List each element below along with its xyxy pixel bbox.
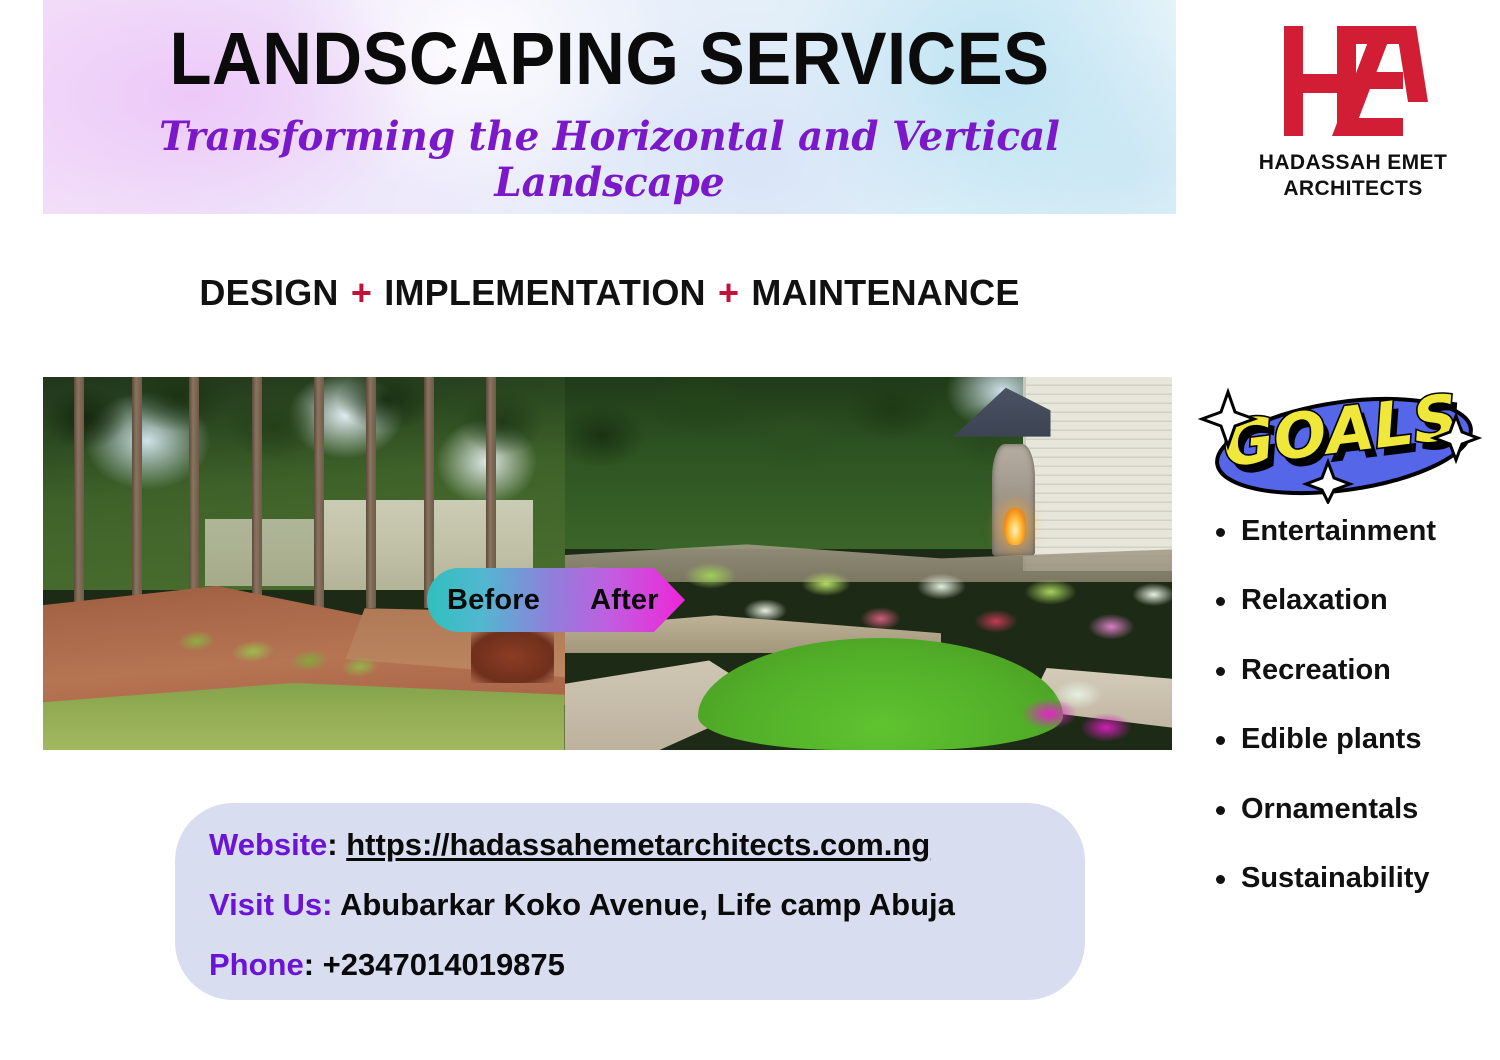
after-magenta-flowers bbox=[1002, 646, 1160, 743]
company-logo: HADASSAH EMET ARCHITECTS bbox=[1228, 22, 1478, 201]
goal-item-ornamentals: Ornamentals bbox=[1213, 794, 1493, 824]
before-tree-trunk bbox=[252, 377, 262, 608]
before-tree-trunk bbox=[314, 377, 324, 608]
website-separator: : bbox=[327, 827, 346, 862]
goals-badge-icon: GOALS GOALS bbox=[1198, 382, 1484, 504]
goals-list: Entertainment Relaxation Recreation Edib… bbox=[1213, 516, 1493, 933]
before-mulch-pile bbox=[471, 631, 554, 683]
goals-badge: GOALS GOALS bbox=[1198, 382, 1484, 504]
logo-line-1: HADASSAH EMET bbox=[1259, 151, 1447, 174]
website-url[interactable]: https://hadassahemetarchitects.com.ng bbox=[346, 827, 930, 862]
before-tree-trunk bbox=[424, 377, 434, 608]
website-label: Website bbox=[209, 827, 327, 862]
before-background-house-left bbox=[205, 519, 320, 586]
after-fire-glow bbox=[1004, 508, 1026, 545]
contact-row-phone: Phone: +2347014019875 bbox=[209, 949, 1051, 980]
before-tree-trunk bbox=[366, 377, 376, 608]
before-tree-trunk bbox=[132, 377, 142, 608]
hea-monogram-icon bbox=[1278, 22, 1428, 140]
phone-number[interactable]: +2347014019875 bbox=[323, 947, 565, 982]
goal-item-relaxation: Relaxation bbox=[1213, 585, 1493, 615]
after-house-siding bbox=[1023, 377, 1172, 571]
before-tree-trunk bbox=[74, 377, 84, 608]
phone-label: Phone bbox=[209, 947, 304, 982]
service-design: DESIGN bbox=[199, 272, 338, 313]
contact-row-address: Visit Us: Abubarkar Koko Avenue, Life ca… bbox=[209, 889, 1051, 920]
contact-info-box: Website: https://hadassahemetarchitects.… bbox=[175, 803, 1085, 1000]
services-tagline: DESIGN + IMPLEMENTATION + MAINTENANCE bbox=[43, 272, 1176, 314]
visit-address: Abubarkar Koko Avenue, Life camp Abuja bbox=[332, 887, 954, 922]
logo-company-name: HADASSAH EMET ARCHITECTS bbox=[1228, 150, 1478, 201]
goal-item-sustainability: Sustainability bbox=[1213, 863, 1493, 893]
service-separator-2: + bbox=[716, 272, 741, 313]
photo-after-half bbox=[565, 377, 1172, 750]
page-title: LANDSCAPING SERVICES bbox=[83, 22, 1137, 96]
before-label: Before bbox=[447, 584, 540, 617]
service-implementation: IMPLEMENTATION bbox=[384, 272, 705, 313]
before-after-toggle-pill[interactable]: Before After bbox=[427, 568, 685, 632]
contact-row-website: Website: https://hadassahemetarchitects.… bbox=[209, 829, 1051, 860]
goal-item-entertainment: Entertainment bbox=[1213, 516, 1493, 546]
visit-label: Visit Us: bbox=[209, 887, 332, 922]
logo-line-2: ARCHITECTS bbox=[1283, 177, 1422, 200]
before-after-photo bbox=[43, 377, 1172, 750]
before-tree-trunk bbox=[189, 377, 199, 608]
service-maintenance: MAINTENANCE bbox=[751, 272, 1019, 313]
phone-separator: : bbox=[304, 947, 323, 982]
header-banner: LANDSCAPING SERVICES Transforming the Ho… bbox=[43, 0, 1176, 214]
goal-item-edible-plants: Edible plants bbox=[1213, 724, 1493, 754]
page-subtitle: Transforming the Horizontal and Vertical… bbox=[60, 114, 1159, 206]
after-label: After bbox=[590, 584, 659, 617]
goal-item-recreation: Recreation bbox=[1213, 655, 1493, 685]
photo-before-half bbox=[43, 377, 565, 750]
service-separator-1: + bbox=[349, 272, 374, 313]
